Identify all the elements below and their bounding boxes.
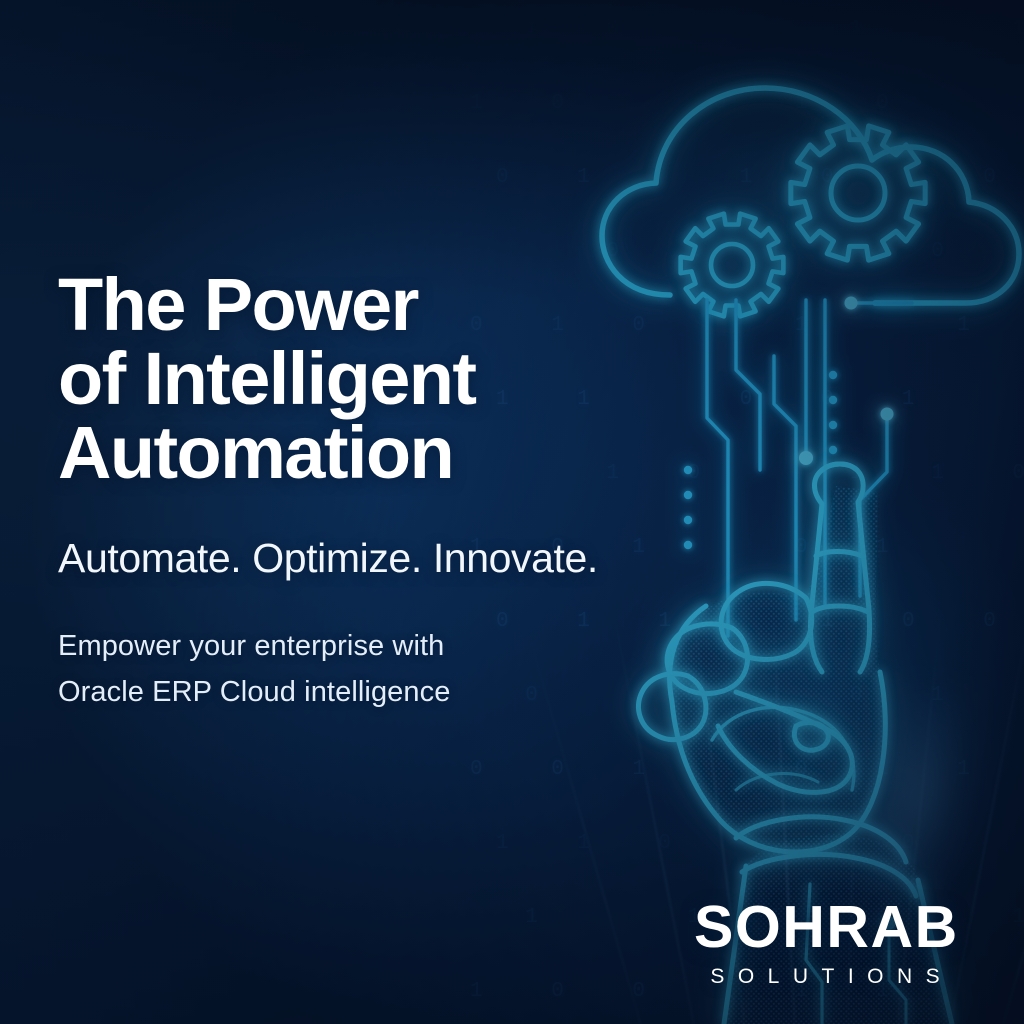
brand-logo: SOHRAB SOLUTIONS <box>694 898 956 987</box>
body-line-1: Empower your enterprise with <box>58 624 678 670</box>
headline-line-1: The Power <box>58 268 678 342</box>
logo-wordmark: SOHRAB <box>694 898 956 957</box>
body-copy: Empower your enterprise with Oracle ERP … <box>58 624 678 716</box>
poster-canvas: 1 1 0 0 1 1 1 0 1 11 0 0 1 0 1 1 0 1 1 0… <box>0 0 1024 1024</box>
subheadline: Automate. Optimize. Innovate. <box>58 536 678 582</box>
copy-block: The Power of Intelligent Automation Auto… <box>58 268 678 716</box>
body-line-2: Oracle ERP Cloud intelligence <box>58 670 678 716</box>
logo-tagline: SOLUTIONS <box>694 966 956 987</box>
page-title: The Power of Intelligent Automation <box>58 268 678 490</box>
headline-line-3: Automation <box>58 416 678 490</box>
headline-line-2: of Intelligent <box>58 342 678 416</box>
